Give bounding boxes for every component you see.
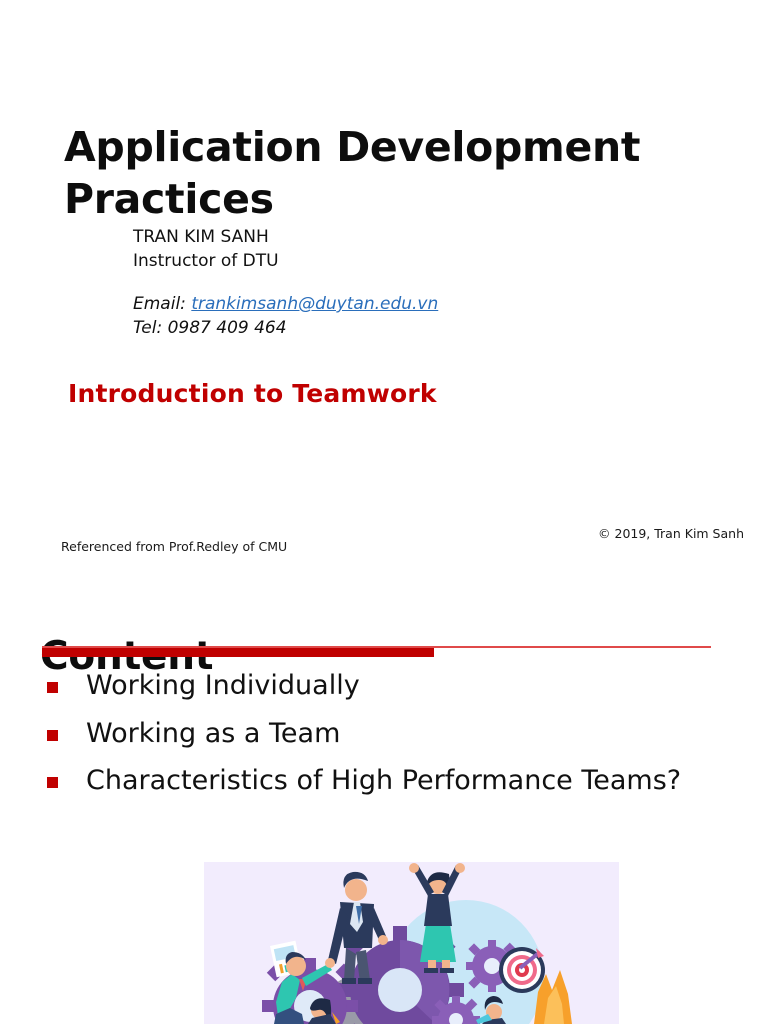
- title-slide: Application Development Practices TRAN K…: [0, 0, 768, 580]
- phone-line: Tel: 0987 409 464: [133, 316, 653, 340]
- email-label: Email:: [133, 294, 186, 314]
- presenter-name: TRAN KIM SANH: [133, 225, 653, 249]
- target-icon: [499, 947, 545, 993]
- content-bullet-list: Working Individually Working as a Team C…: [44, 668, 724, 811]
- list-item-label: Working Individually: [86, 670, 360, 701]
- presenter-role: Instructor of DTU: [133, 249, 653, 273]
- presenter-block: TRAN KIM SANH Instructor of DTU: [133, 225, 653, 273]
- email-line: Email: trankimsanh@duytan.edu.vn: [133, 292, 653, 316]
- list-item-label: Working as a Team: [86, 718, 340, 749]
- list-item: Working as a Team: [44, 716, 724, 753]
- bullet-square-icon: [47, 730, 58, 741]
- email-link[interactable]: trankimsanh@duytan.edu.vn: [191, 294, 438, 314]
- bullet-square-icon: [47, 777, 58, 788]
- page-title: Application Development Practices: [64, 122, 704, 225]
- teamwork-illustration: [204, 862, 619, 1024]
- heading-rule-thick: [42, 648, 434, 657]
- content-slide: Content Working Individually Working as …: [0, 580, 768, 1024]
- list-item: Characteristics of High Performance Team…: [44, 763, 724, 800]
- reference-note: Referenced from Prof.Redley of CMU: [61, 539, 287, 554]
- bullet-square-icon: [47, 682, 58, 693]
- contact-block: Email: trankimsanh@duytan.edu.vn Tel: 09…: [133, 292, 653, 340]
- slide-subtitle: Introduction to Teamwork: [68, 379, 437, 408]
- list-item: Working Individually: [44, 668, 724, 705]
- list-item-label: Characteristics of High Performance Team…: [86, 765, 681, 796]
- copyright-note: © 2019, Tran Kim Sanh: [598, 526, 744, 541]
